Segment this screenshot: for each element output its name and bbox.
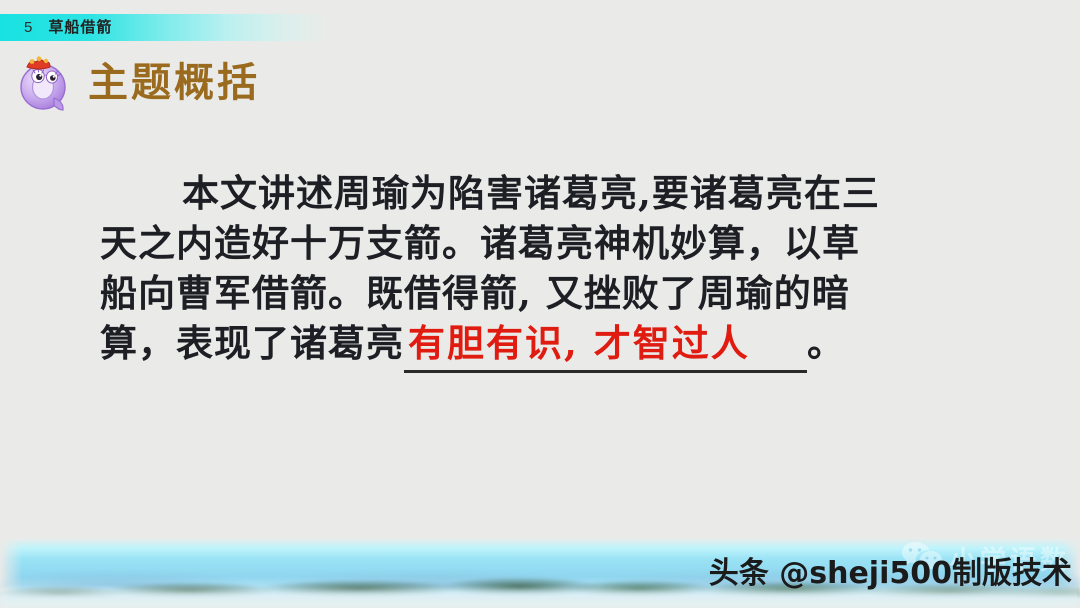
q-mascot-icon [14,52,76,114]
summary-line-4-prefix: 算，表现了诸葛亮 [100,321,404,365]
section-title: 主题概括 [88,63,260,103]
lesson-header-content: 5 草船借箭 [0,14,112,41]
lesson-title: 草船借箭 [48,20,112,35]
scenery-mist [0,586,1080,608]
summary-line-3: 船向曹军借箭。既借得箭, 又挫败了周瑜的暗 [100,268,980,318]
summary-line-1: 本文讲述周瑜为陷害诸葛亮,要诸葛亮在三 [100,168,980,218]
ghost-watermark: 小学语数 [900,539,1070,578]
ghost-watermark-label: 小学语数 [950,540,1070,577]
summary-line-4-suffix: 。 [807,321,845,365]
wechat-icon [900,539,944,578]
summary-line-2: 天之内造好十万支箭。诸葛亮神机妙算，以草 [100,218,980,268]
section-heading: 主题概括 [14,52,260,114]
lesson-number: 5 [24,20,32,35]
summary-paragraph: 本文讲述周瑜为陷害诸葛亮,要诸葛亮在三 天之内造好十万支箭。诸葛亮神机妙算，以草… [100,168,980,368]
fill-in-blank-answer[interactable]: 有胆有识, 才智过人 [404,318,807,373]
summary-line-4: 算，表现了诸葛亮有胆有识, 才智过人。 [100,318,980,368]
slide-canvas: 5 草船借箭 [0,0,1080,608]
lesson-header-bar: 5 草船借箭 [0,14,1080,41]
